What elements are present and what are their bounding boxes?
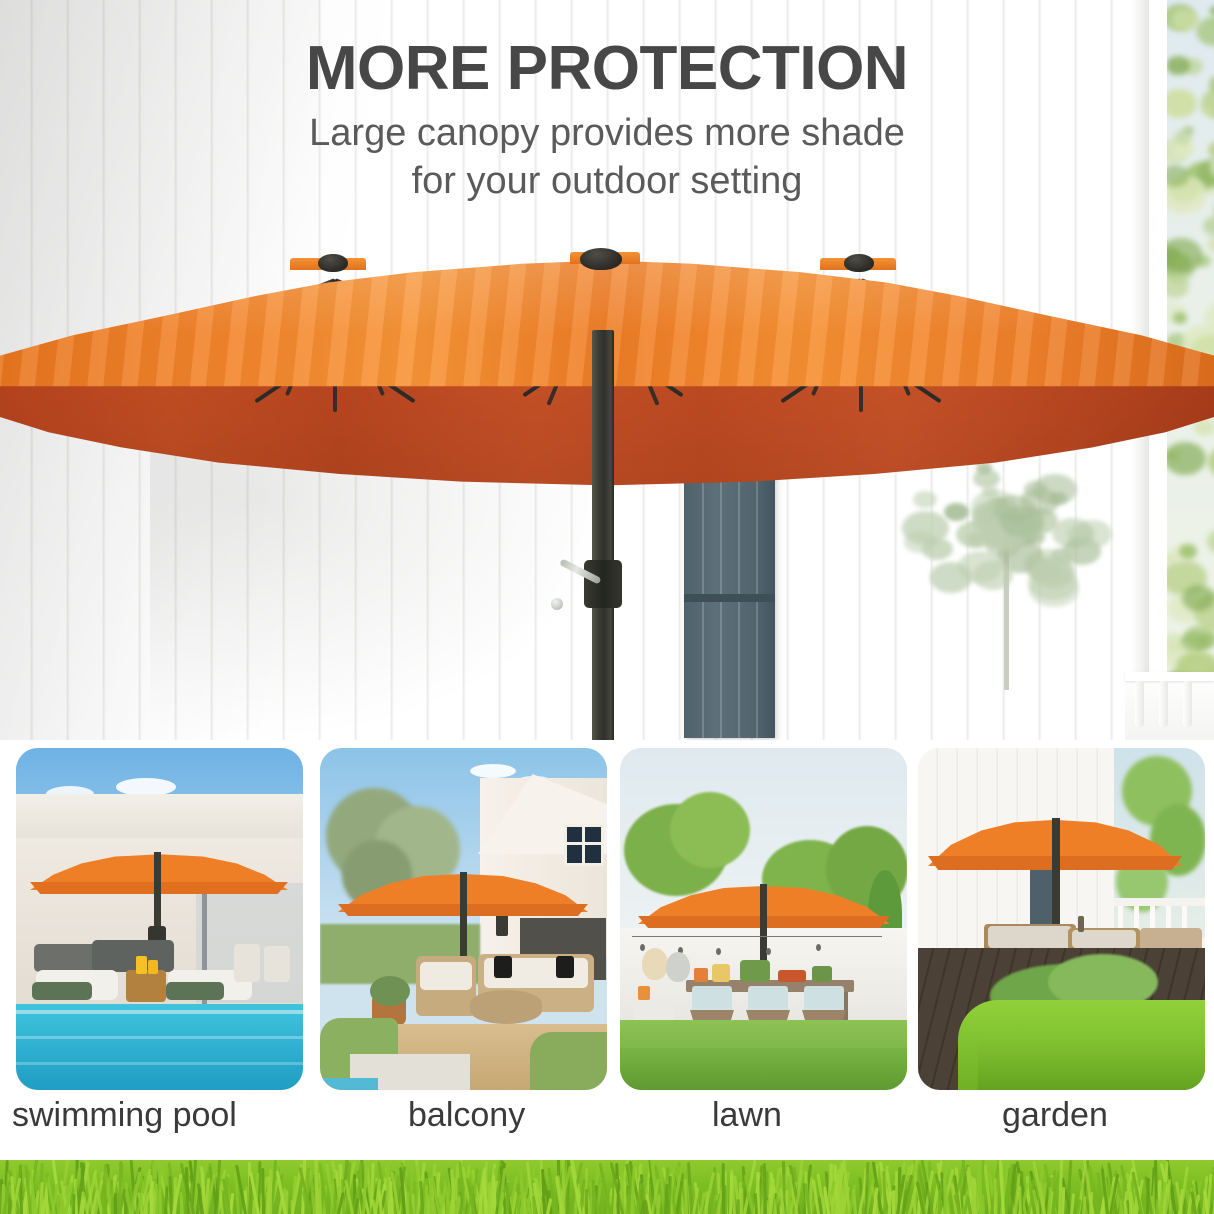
hero-banner: MORE PROTECTION Large canopy provides mo…	[0, 0, 1214, 740]
caption-garden: garden	[1002, 1096, 1108, 1135]
page-title: MORE PROTECTION	[0, 33, 1214, 104]
grass-footer-strip	[0, 1160, 1214, 1214]
thumb-garden[interactable]	[918, 748, 1205, 1090]
thumb-swimming-pool[interactable]	[16, 748, 303, 1090]
umbrella-pole	[592, 330, 614, 740]
crank-knob[interactable]	[551, 598, 563, 610]
subtitle-line-1: Large canopy provides more shade	[0, 110, 1214, 158]
thumb-lawn[interactable]	[620, 748, 907, 1090]
subtitle-line-2: for your outdoor setting	[0, 158, 1214, 206]
hub-right	[844, 254, 874, 272]
caption-balcony: balcony	[408, 1096, 525, 1135]
hub-left	[318, 254, 348, 272]
porch-railing	[1125, 672, 1214, 740]
thumb-balcony[interactable]	[320, 748, 607, 1090]
page-subtitle: Large canopy provides more shade for you…	[0, 110, 1214, 206]
scene-thumbnail-row	[0, 748, 1214, 1096]
crank-housing	[584, 560, 622, 608]
caption-lawn: lawn	[712, 1096, 782, 1135]
hub-center	[580, 248, 622, 270]
caption-swimming-pool: swimming pool	[12, 1096, 237, 1135]
thumbnail-captions: swimming pool balcony lawn garden	[0, 1096, 1214, 1148]
